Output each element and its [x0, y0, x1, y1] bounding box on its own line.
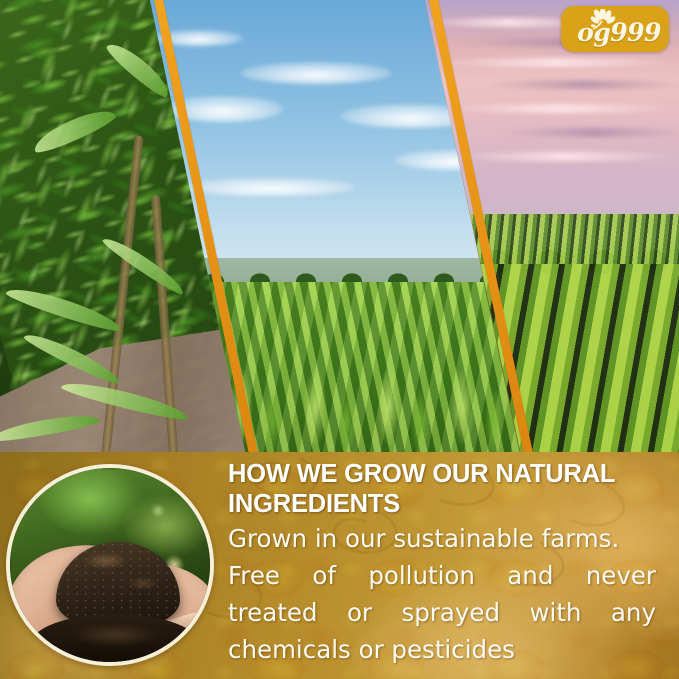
sunset-cloud	[480, 80, 679, 89]
word: sprayed	[401, 594, 500, 631]
word: any	[611, 594, 656, 631]
word: and	[507, 557, 553, 594]
word: or	[347, 594, 372, 631]
banner-headline-line-2: INGREDIENTS	[228, 490, 672, 518]
banner-copy: HOW WE GROW OUR NATURAL INGREDIENTS Grow…	[228, 460, 672, 668]
banner-body-line-4: chemicals or pesticides	[228, 631, 672, 668]
cloud	[185, 178, 355, 196]
banner-headline-line-1: HOW WE GROW OUR NATURAL	[228, 460, 672, 488]
banner-body-line-1: Grown in our sustainable farms.	[228, 520, 672, 557]
cloud	[241, 62, 391, 84]
hands-holding-soil-image	[6, 464, 214, 666]
word: pollution	[368, 557, 475, 594]
brand-logo-badge[interactable]: og999	[561, 6, 669, 52]
banner-body-line-2: Free of pollution and never	[228, 557, 656, 594]
word: Free	[228, 557, 280, 594]
sunset-cloud	[450, 152, 679, 161]
word: of	[312, 557, 336, 594]
word: treated	[228, 594, 317, 631]
banner-body-line-3: treated or sprayed with any	[228, 594, 656, 631]
word: with	[529, 594, 581, 631]
photo-strip: og999	[0, 0, 679, 455]
sunset-cloud	[500, 128, 679, 137]
marketing-poster: og999	[0, 0, 679, 679]
brand-logo-text: og999	[569, 18, 669, 48]
sunset-cloud	[430, 58, 679, 67]
word: never	[586, 557, 656, 594]
sunset-cloud	[440, 104, 679, 113]
